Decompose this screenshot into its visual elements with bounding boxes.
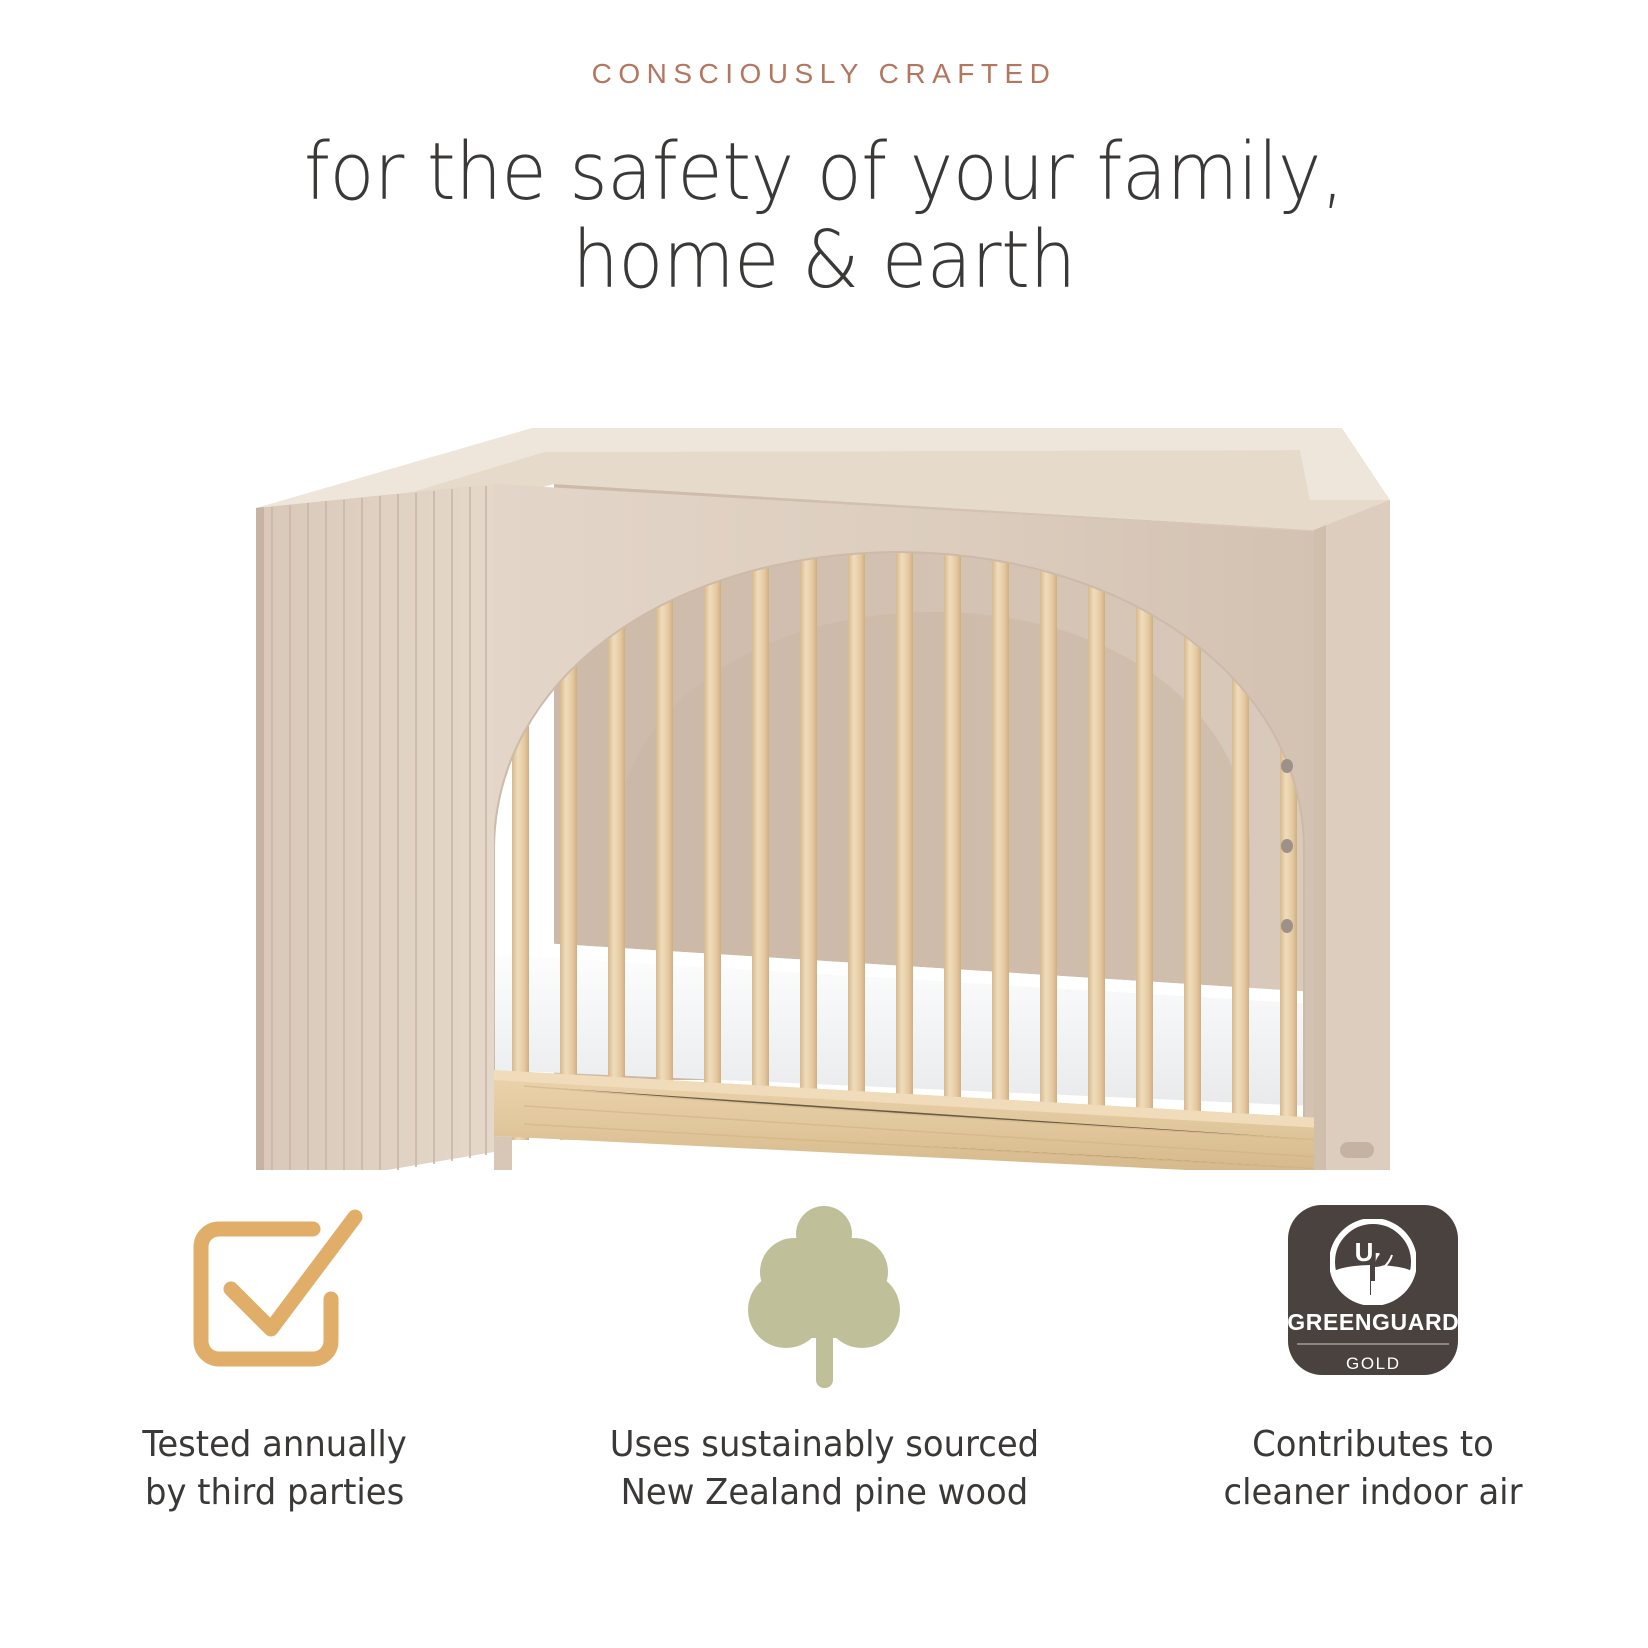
feature-icon-wrap [724,1185,924,1395]
checkbox-check-icon [175,1195,375,1385]
feature-caption-line-2: cleaner indoor air [1224,1469,1523,1517]
feature-icon-wrap [175,1185,375,1395]
greenguard-label: GREENGUARD [1288,1309,1458,1336]
feature-caption: Tested annually by third parties [142,1421,406,1517]
feature-caption: Contributes to cleaner indoor air [1224,1421,1523,1517]
product-image-crib [0,380,1648,1170]
feature-icon-wrap: U L GREENGUARD GOLD [1288,1185,1458,1395]
headline-line-1: for the safety of your family, [304,126,1344,218]
svg-text:U: U [1355,1237,1374,1267]
feature-caption-line-2: by third parties [142,1469,406,1517]
feature-caption-line-1: Uses sustainably sourced [609,1421,1038,1469]
feature-cleaner-air: U L GREENGUARD GOLD Contributes to clean… [1099,1185,1648,1585]
ul-mark-icon: U L [1330,1219,1416,1305]
marketing-infographic: CONSCIOUSLY CRAFTED for the safety of yo… [0,0,1648,1648]
headline-line-2: home & earth [58,216,1591,304]
tree-icon [724,1190,924,1390]
greenguard-gold-badge-icon: U L GREENGUARD GOLD [1288,1205,1458,1375]
feature-caption: Uses sustainably sourced New Zealand pin… [609,1421,1038,1517]
eyebrow-text: CONSCIOUSLY CRAFTED [0,58,1648,90]
crib-illustration [194,380,1454,1170]
feature-caption-line-1: Tested annually [142,1421,406,1469]
feature-caption-line-1: Contributes to [1224,1421,1523,1469]
crib-right-end-panel [1314,500,1390,1170]
feature-row: Tested annually by third parties [0,1185,1648,1585]
feature-sustainable-wood: Uses sustainably sourced New Zealand pin… [549,1185,1098,1585]
badge-divider [1297,1343,1449,1345]
greenguard-tier-label: GOLD [1346,1354,1401,1374]
feature-tested-annually: Tested annually by third parties [0,1185,549,1585]
page-title: for the safety of your family, home & ea… [58,128,1591,305]
crib-fluted-end-panel [256,484,494,1170]
feature-caption-line-2: New Zealand pine wood [609,1469,1038,1517]
crib-left-leg [494,1136,512,1170]
